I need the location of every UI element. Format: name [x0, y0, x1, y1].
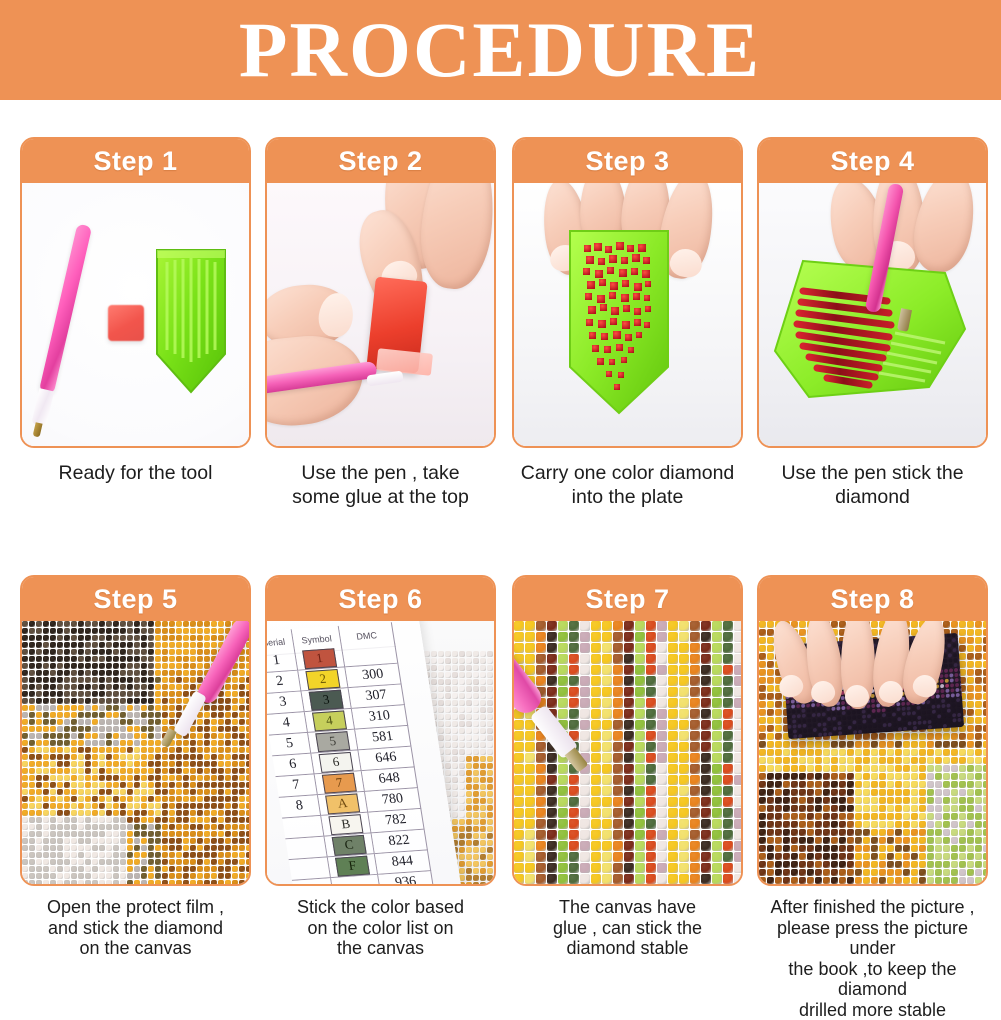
step-cell-8: Step 8 [757, 575, 988, 1020]
step-caption-5: Open the protect film ,and stick the dia… [20, 897, 251, 959]
chart-symbol-chip: F [335, 855, 370, 876]
drill-tray-icon [153, 246, 229, 396]
step-header-5: Step 5 [22, 577, 249, 621]
step-label-8: Step 8 [830, 586, 914, 613]
step-cell-7: Step 7 The canvas haveglue , can stick t… [512, 575, 743, 959]
page-title: PROCEDURE [239, 11, 761, 89]
step-caption-4: Use the pen stick thediamond [757, 462, 988, 510]
tray-with-red-drills-icon [514, 183, 741, 446]
step-caption-2: Use the pen , takesome glue at the top [265, 462, 496, 510]
step-label-2: Step 2 [338, 148, 422, 175]
step-caption-6: Stick the color basedon the color list o… [265, 897, 496, 959]
step-label-5: Step 5 [93, 586, 177, 613]
pen-picking-drill-icon [759, 183, 986, 446]
step-card-8[interactable]: Step 8 [757, 575, 988, 886]
press-book-icon [759, 621, 986, 884]
step-header-4: Step 4 [759, 139, 986, 183]
step-image-7 [514, 621, 741, 884]
chart-symbol-chip: 2 [305, 668, 340, 689]
chart-cell-serial: 8 [279, 795, 321, 818]
step-label-6: Step 6 [338, 586, 422, 613]
step-cell-4: Step 4 [757, 137, 988, 510]
step-header-6: Step 6 [267, 577, 494, 621]
hand-with-glue-icon [267, 183, 494, 446]
drill-tray-icon [769, 255, 969, 405]
steps-grid: Step 1 [0, 100, 1001, 1001]
step-card-3[interactable]: Step 3 [512, 137, 743, 448]
step-card-7[interactable]: Step 7 [512, 575, 743, 886]
step-caption-8: After finished the picture ,please press… [757, 897, 988, 1020]
step-caption-7: The canvas haveglue , can stick thediamo… [512, 897, 743, 959]
step-cell-1: Step 1 [20, 137, 251, 486]
chart-cell-serial: 3 [267, 691, 305, 714]
chart-cell-serial: 1 [267, 650, 298, 673]
step-header-8: Step 8 [759, 577, 986, 621]
chart-cell-serial [285, 837, 327, 860]
lower-hand-shape [267, 279, 417, 446]
chart-symbol-chip: 6 [318, 751, 353, 772]
chart-symbol-chip: B [328, 814, 363, 835]
diamond-pen-icon [22, 183, 249, 446]
chart-symbol-chip: 1 [302, 648, 337, 669]
step-card-6[interactable]: Step 6 SerialSymbolDMC112230033307443105… [265, 575, 496, 886]
step-header-2: Step 2 [267, 139, 494, 183]
chart-symbol-chip: 5 [315, 731, 350, 752]
wax-glue-icon [108, 305, 144, 341]
mosaic-canvas-icon [22, 621, 249, 884]
hand-shape [777, 621, 957, 727]
drill-tray-icon [564, 227, 674, 417]
chart-cell-serial: 2 [267, 671, 302, 694]
step-label-7: Step 7 [585, 586, 669, 613]
chart-symbol-chip: 3 [309, 689, 344, 710]
step-image-8 [759, 621, 986, 884]
step-header-3: Step 3 [514, 139, 741, 183]
step-image-1 [22, 183, 249, 446]
step-cell-6: Step 6 SerialSymbolDMC112230033307443105… [265, 575, 496, 959]
step-header-7: Step 7 [514, 577, 741, 621]
glued-canvas-icon [514, 621, 741, 884]
step-image-2 [267, 183, 494, 446]
color-list-chart-icon: SerialSymbolDMC1122300333074431055581666… [267, 621, 494, 884]
step-cell-5: Step 5 Open the protect film ,and stick … [20, 575, 251, 959]
step-image-5 [22, 621, 249, 884]
header-band: PROCEDURE [0, 0, 1001, 100]
step-card-5[interactable]: Step 5 [20, 575, 251, 886]
procedure-infographic: PROCEDURE Step 1 [0, 0, 1001, 1001]
chart-symbol-chip: A [325, 793, 360, 814]
step-cell-3: Step 3 [512, 137, 743, 510]
chart-cell-serial: 4 [267, 712, 308, 735]
chart-cell-serial: 5 [269, 733, 311, 756]
step-header-1: Step 1 [22, 139, 249, 183]
step-label-1: Step 1 [93, 148, 177, 175]
step-label-4: Step 4 [830, 148, 914, 175]
step-caption-3: Carry one color diamondinto the plate [512, 462, 743, 510]
chart-cell-serial: 7 [276, 774, 318, 797]
step-image-3 [514, 183, 741, 446]
step-card-4[interactable]: Step 4 [757, 137, 988, 448]
step-card-2[interactable]: Step 2 [265, 137, 496, 448]
chart-symbol-chip: 7 [322, 772, 357, 793]
step-label-3: Step 3 [585, 148, 669, 175]
step-card-1[interactable]: Step 1 [20, 137, 251, 448]
chart-symbol-chip: C [332, 834, 367, 855]
step-image-6: SerialSymbolDMC1122300333074431055581666… [267, 621, 494, 884]
step-image-4 [759, 183, 986, 446]
chart-cell-serial [289, 857, 331, 880]
chart-symbol-chip: 4 [312, 710, 347, 731]
chart-cell-serial: 6 [272, 754, 314, 777]
step-caption-1: Ready for the tool [20, 462, 251, 486]
chart-cell-serial [282, 816, 324, 839]
step-cell-2: Step 2 [265, 137, 496, 510]
